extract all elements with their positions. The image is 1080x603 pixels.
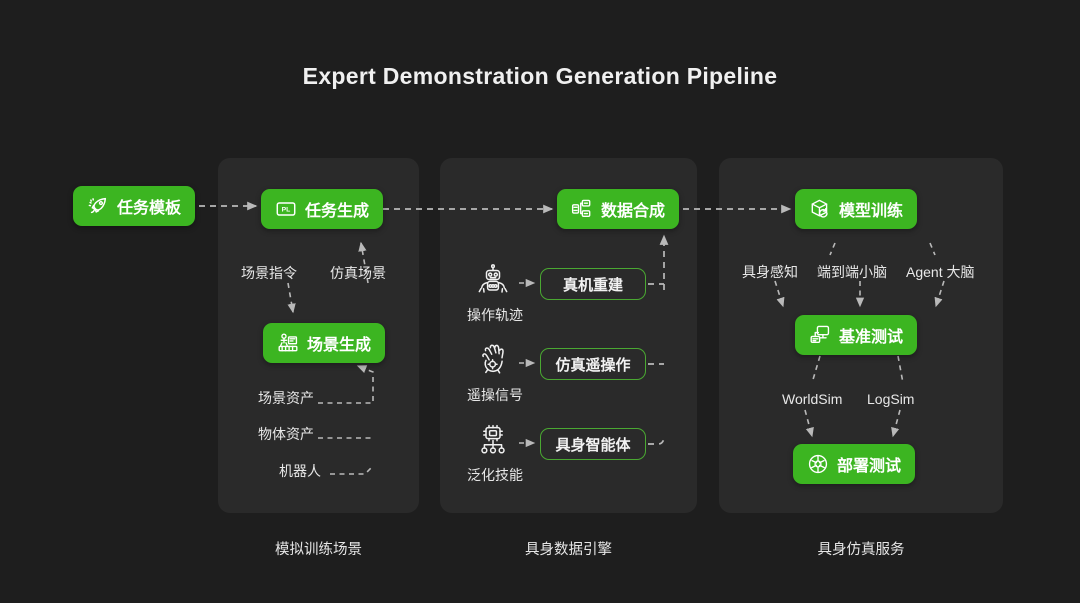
label-robot: 机器人 (279, 461, 321, 481)
label-logsim: LogSim (867, 391, 914, 407)
rocket-icon (87, 195, 109, 217)
panel-caption-embodied-simulation-services: 具身仿真服务 (719, 538, 1003, 559)
box-real-machine-reconstruction[interactable]: 真机重建 (540, 268, 646, 300)
node-label: 部署测试 (837, 452, 901, 476)
node-task-template[interactable]: 任务模板 (73, 186, 195, 226)
pl-badge-icon: PL (275, 198, 297, 220)
node-label: 模型训练 (839, 197, 903, 221)
label-simulation-scene: 仿真场景 (330, 263, 386, 283)
node-label: 数据合成 (601, 197, 665, 221)
panel-caption-embodied-data-engine: 具身数据引擎 (440, 538, 697, 559)
cube-refresh-icon (809, 198, 831, 220)
data-sync-icon (571, 198, 593, 220)
node-data-synthesis[interactable]: 数据合成 (557, 189, 679, 229)
node-label: 场景生成 (307, 331, 371, 355)
svg-text:PL: PL (282, 206, 291, 213)
scene-robot-icon (277, 332, 299, 354)
node-label: 任务生成 (305, 197, 369, 221)
box-label: 真机重建 (563, 274, 623, 295)
label-scene-instruction: 场景指令 (241, 263, 297, 283)
glove-icon (473, 342, 513, 382)
chip-network-icon (473, 422, 513, 462)
node-benchmark-testing[interactable]: 基准测试 (795, 315, 917, 355)
pipeline-diagram: Expert Demonstration Generation Pipeline (0, 0, 1080, 603)
node-scene-generation[interactable]: 场景生成 (263, 323, 385, 363)
box-embodied-agent[interactable]: 具身智能体 (540, 428, 646, 460)
label-worldsim: WorldSim (782, 391, 842, 407)
label-object-assets: 物体资产 (258, 424, 314, 444)
node-model-training[interactable]: 模型训练 (795, 189, 917, 229)
box-label: 仿真遥操作 (555, 354, 630, 375)
label-teleoperation-signal: 遥操信号 (467, 385, 523, 405)
node-task-generation[interactable]: PL 任务生成 (261, 189, 383, 229)
robot-icon (473, 262, 513, 302)
label-embodied-perception: 具身感知 (742, 262, 798, 282)
label-end-to-end-cerebellum: 端到端小脑 (817, 262, 887, 282)
node-deployment-testing[interactable]: 部署测试 (793, 444, 915, 484)
box-label: 具身智能体 (555, 434, 630, 455)
label-generalization-skills: 泛化技能 (467, 465, 523, 485)
label-operation-trajectory: 操作轨迹 (467, 305, 523, 325)
node-label: 任务模板 (117, 194, 181, 218)
page-title: Expert Demonstration Generation Pipeline (0, 63, 1080, 90)
monitor-test-icon (809, 324, 831, 346)
panel-caption-simulated-training-scenarios: 模拟训练场景 (218, 538, 419, 559)
box-simulated-teleoperation[interactable]: 仿真遥操作 (540, 348, 646, 380)
label-agent-brain: Agent 大脑 (906, 262, 974, 282)
node-label: 基准测试 (839, 323, 903, 347)
wheel-icon (807, 453, 829, 475)
label-scene-assets: 场景资产 (258, 388, 314, 408)
